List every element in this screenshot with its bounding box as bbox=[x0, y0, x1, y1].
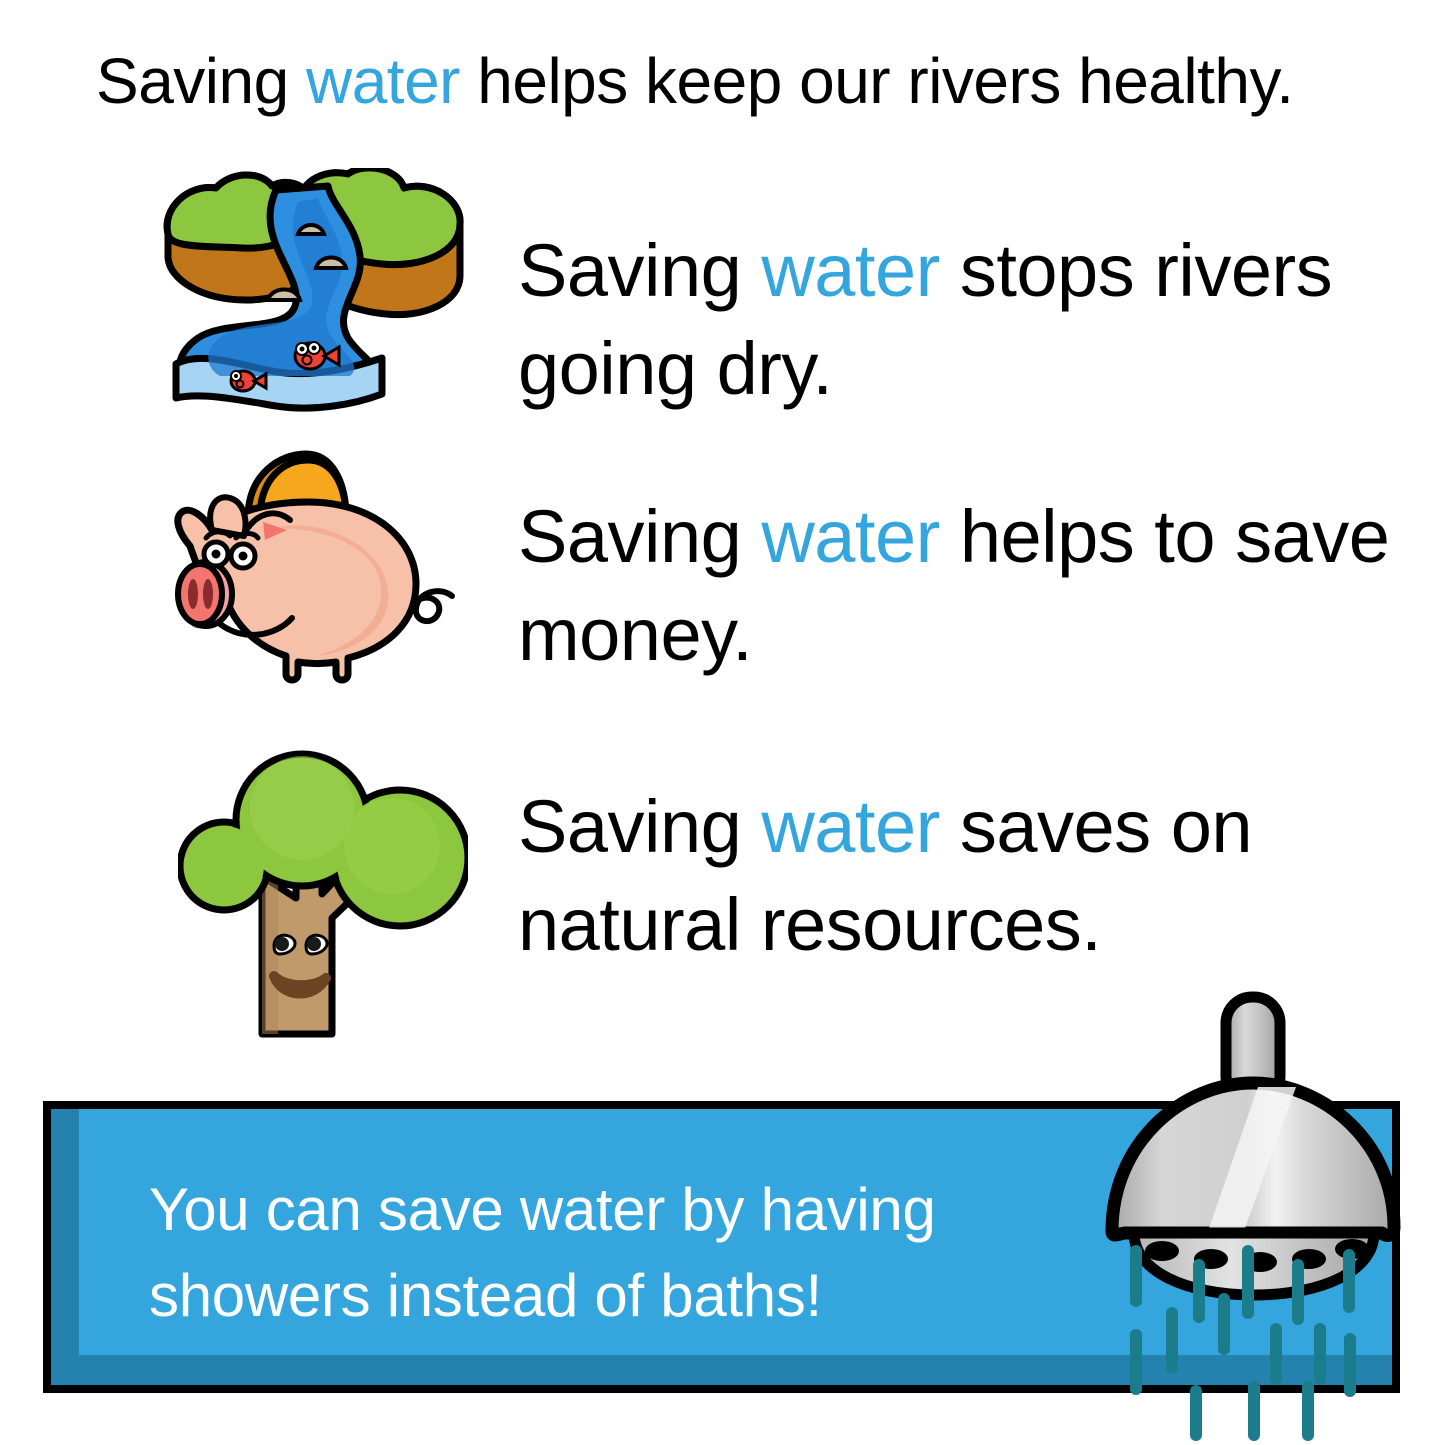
benefit-text-tree: Saving water saves on natural resources. bbox=[518, 778, 1418, 974]
page-title: Saving water helps keep our rivers healt… bbox=[96, 42, 1386, 120]
poster-canvas: Saving water helps keep our rivers healt… bbox=[0, 0, 1445, 1445]
page-title-before: Saving bbox=[96, 45, 306, 117]
benefit-text-river-keyword: water bbox=[761, 229, 939, 312]
benefit-row-river: Saving water stops rivers going dry. bbox=[0, 160, 1445, 430]
page-title-keyword: water bbox=[306, 45, 460, 117]
page-title-after: helps keep our rivers healthy. bbox=[460, 45, 1294, 117]
benefit-text-river: Saving water stops rivers going dry. bbox=[518, 222, 1398, 418]
benefit-text-piggy-bank-keyword: water bbox=[761, 495, 939, 578]
benefit-text-piggy-bank: Saving water helps to save money. bbox=[518, 488, 1418, 684]
shower-head-illustration bbox=[1090, 983, 1445, 1445]
benefit-text-tree-keyword: water bbox=[761, 785, 939, 868]
tip-banner-line-2: showers instead of baths! bbox=[149, 1253, 1199, 1339]
benefit-row-piggy-bank: Saving water helps to save money. bbox=[0, 440, 1445, 700]
tree-illustration bbox=[178, 748, 468, 1048]
benefit-text-river-before: Saving bbox=[518, 229, 761, 312]
river-illustration bbox=[150, 168, 490, 427]
tip-banner-line-1: You can save water by having bbox=[149, 1167, 1199, 1253]
benefit-text-piggy-bank-before: Saving bbox=[518, 495, 761, 578]
tip-banner-text: You can save water by having showers ins… bbox=[149, 1167, 1199, 1339]
benefit-text-tree-before: Saving bbox=[518, 785, 761, 868]
piggy-bank-illustration bbox=[160, 446, 490, 695]
